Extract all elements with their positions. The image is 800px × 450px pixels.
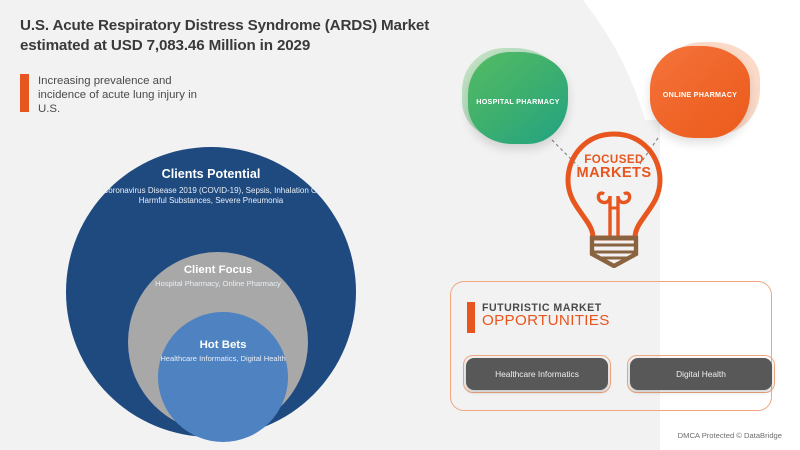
subtitle-block: Increasing prevalence and incidence of a… [20,74,213,117]
opportunity-chip-label: Healthcare Informatics [466,358,608,390]
circle-outer-subtitle: Coronavirus Disease 2019 (COVID-19), Sep… [89,186,334,206]
infographic-canvas: U.S. Acute Respiratory Distress Syndrome… [0,0,800,450]
accent-bar-icon [20,74,29,112]
concentric-circles-diagram: Clients Potential Coronavirus Disease 20… [66,147,356,437]
opportunities-heading-line2: OPPORTUNITIES [482,313,610,329]
opportunity-chip-label: Digital Health [630,358,772,390]
circle-middle-subtitle: Hospital Pharmacy, Online Pharmacy [118,279,318,289]
online-node-label: ONLINE PHARMACY [663,90,737,99]
opportunity-chip-digital-health[interactable]: Digital Health [627,355,775,393]
subtitle-text: Increasing prevalence and incidence of a… [38,74,213,117]
hospital-node-label: HOSPITAL PHARMACY [476,97,559,106]
lightbulb-icon: FOCUSED MARKETS [548,128,680,268]
page-title: U.S. Acute Respiratory Distress Syndrome… [20,16,475,56]
footer-credit: DMCA Protected © DataBridge [678,431,782,440]
online-node-shape: ONLINE PHARMACY [650,46,750,138]
circle-middle-title: Client Focus [184,264,252,276]
circle-inner-subtitle: Healthcare Informatics, Digital Health [131,354,316,364]
circle-hot-bets[interactable]: Hot Bets Healthcare Informatics, Digital… [158,312,288,442]
opportunities-panel: FUTURISTIC MARKET OPPORTUNITIES Healthca… [450,281,772,411]
circle-inner-title: Hot Bets [200,339,247,351]
opportunity-chip-healthcare-informatics[interactable]: Healthcare Informatics [463,355,611,393]
panel-accent-bar-icon [467,302,475,333]
opportunities-heading: FUTURISTIC MARKET OPPORTUNITIES [467,302,610,333]
opportunity-chip-list: Healthcare Informatics Digital Health [463,355,775,393]
circle-outer-title: Clients Potential [162,167,261,181]
